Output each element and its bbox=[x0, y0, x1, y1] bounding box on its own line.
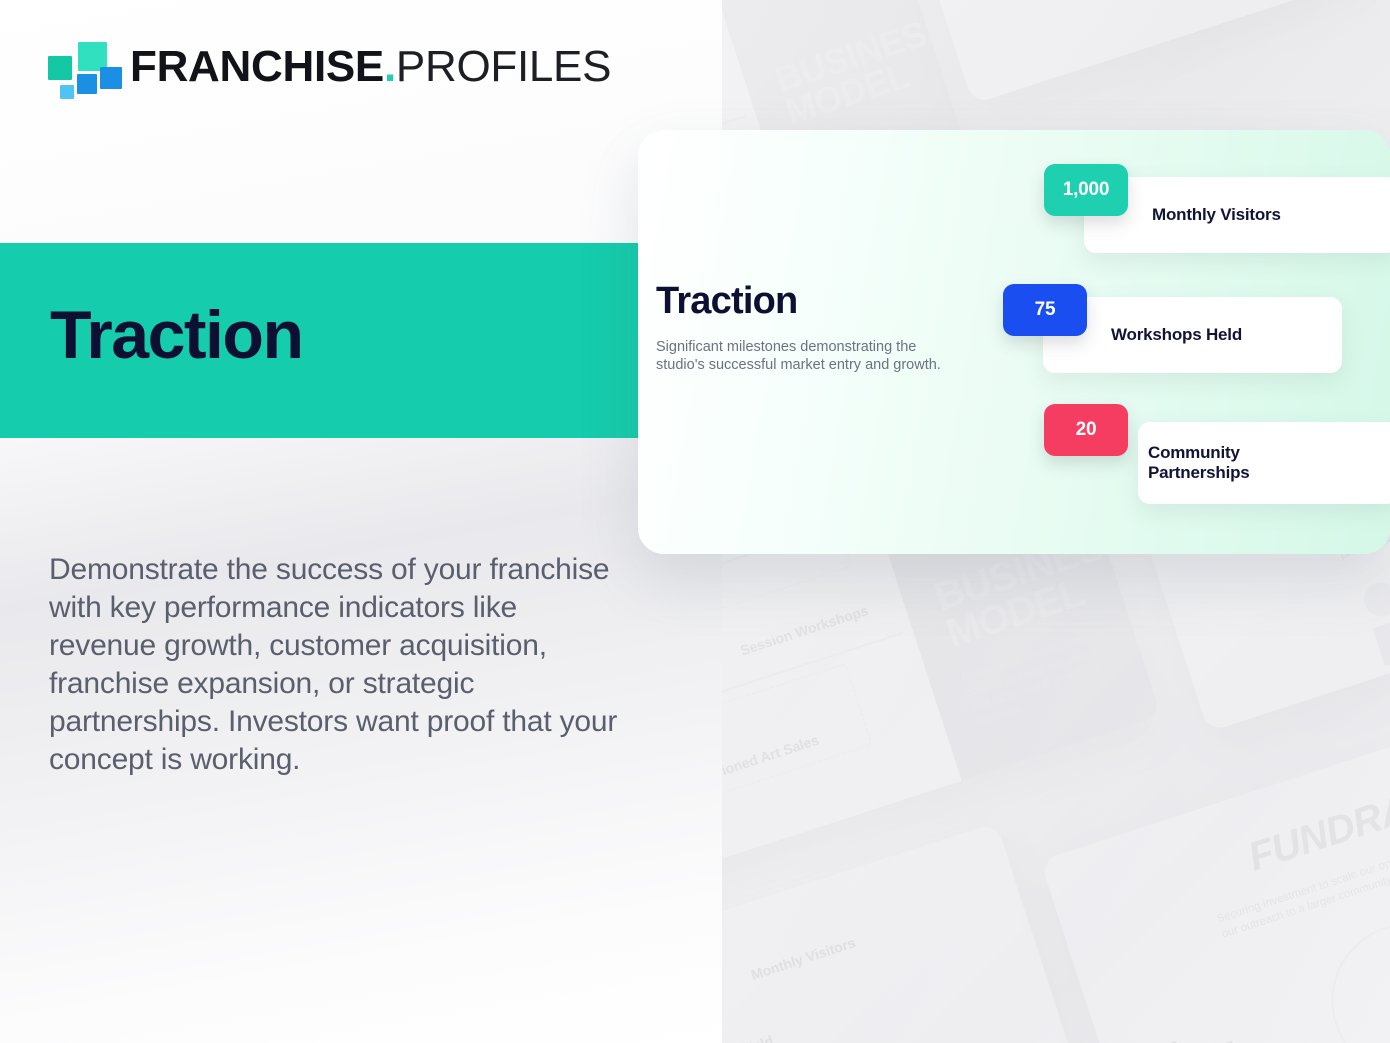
bg-slide-traction-ghost: 1,000 Monthly Visitors Workshops Held Co… bbox=[716, 822, 1098, 1043]
body-paragraph: Demonstrate the success of your franchis… bbox=[49, 551, 624, 779]
brand-wordmark: FRANCHISE.PROFILES bbox=[130, 45, 611, 89]
stat-row-monthly-visitors: Monthly Visitors 1,000 bbox=[998, 164, 1390, 248]
stat-badge-value: 1,000 bbox=[1044, 164, 1128, 216]
bg-donut-chart bbox=[1311, 904, 1390, 1043]
bg-label-space-expansion: $150,000 Space Expansion bbox=[1124, 1021, 1236, 1043]
bg-slide-problem: Limited Resources Accessible Spaces bbox=[880, 0, 1372, 104]
bg-slide-fundraising: FUNDRAISING Securing investment to scale… bbox=[1040, 700, 1390, 1043]
stat-label: Monthly Visitors bbox=[1152, 205, 1281, 225]
stat-list: Monthly Visitors 1,000 Workshops Held 75… bbox=[998, 164, 1390, 488]
stat-row-community-partnerships: Community Partnerships 20 bbox=[998, 404, 1390, 488]
brand-dot: . bbox=[384, 42, 396, 91]
stat-row-workshops-held: Workshops Held 75 bbox=[998, 284, 1390, 368]
card-text-column: Traction Significant milestones demonstr… bbox=[656, 282, 986, 374]
stat-card: Workshops Held bbox=[1043, 297, 1342, 373]
brand-name-bold: FRANCHISE bbox=[130, 42, 384, 91]
card-heading: Traction bbox=[656, 282, 986, 320]
traction-preview-card: Traction Significant milestones demonstr… bbox=[638, 130, 1390, 554]
bg-bar bbox=[1373, 622, 1390, 667]
bg-title-fundraising: FUNDRAISING bbox=[1244, 756, 1390, 876]
slide-canvas: Drop-In Fees Session Workshops Commissio… bbox=[0, 0, 1390, 1043]
bg-ghost-label-monthly-visitors: Monthly Visitors bbox=[749, 934, 857, 983]
bg-coin-icon bbox=[1360, 578, 1390, 621]
stat-badge-value: 20 bbox=[1044, 404, 1128, 456]
stat-label: Community Partnerships bbox=[1148, 443, 1250, 483]
page-title: Traction bbox=[50, 301, 303, 369]
card-description: Significant milestones demonstrating the… bbox=[656, 338, 956, 374]
brand-logo[interactable]: FRANCHISE.PROFILES bbox=[48, 41, 611, 93]
bg-ghost-label-workshops-held: Workshops Held bbox=[716, 1032, 775, 1043]
stat-card: Community Partnerships bbox=[1138, 422, 1390, 504]
brand-name-light: PROFILES bbox=[396, 42, 611, 91]
five-squares-logo-icon bbox=[48, 41, 108, 93]
section-banner: Traction bbox=[0, 243, 648, 438]
stat-label: Workshops Held bbox=[1111, 325, 1242, 345]
stat-badge-value: 75 bbox=[1003, 284, 1087, 336]
stat-card: Monthly Visitors bbox=[1084, 177, 1390, 253]
left-panel: FRANCHISE.PROFILES Traction Demonstrate … bbox=[0, 0, 722, 1043]
